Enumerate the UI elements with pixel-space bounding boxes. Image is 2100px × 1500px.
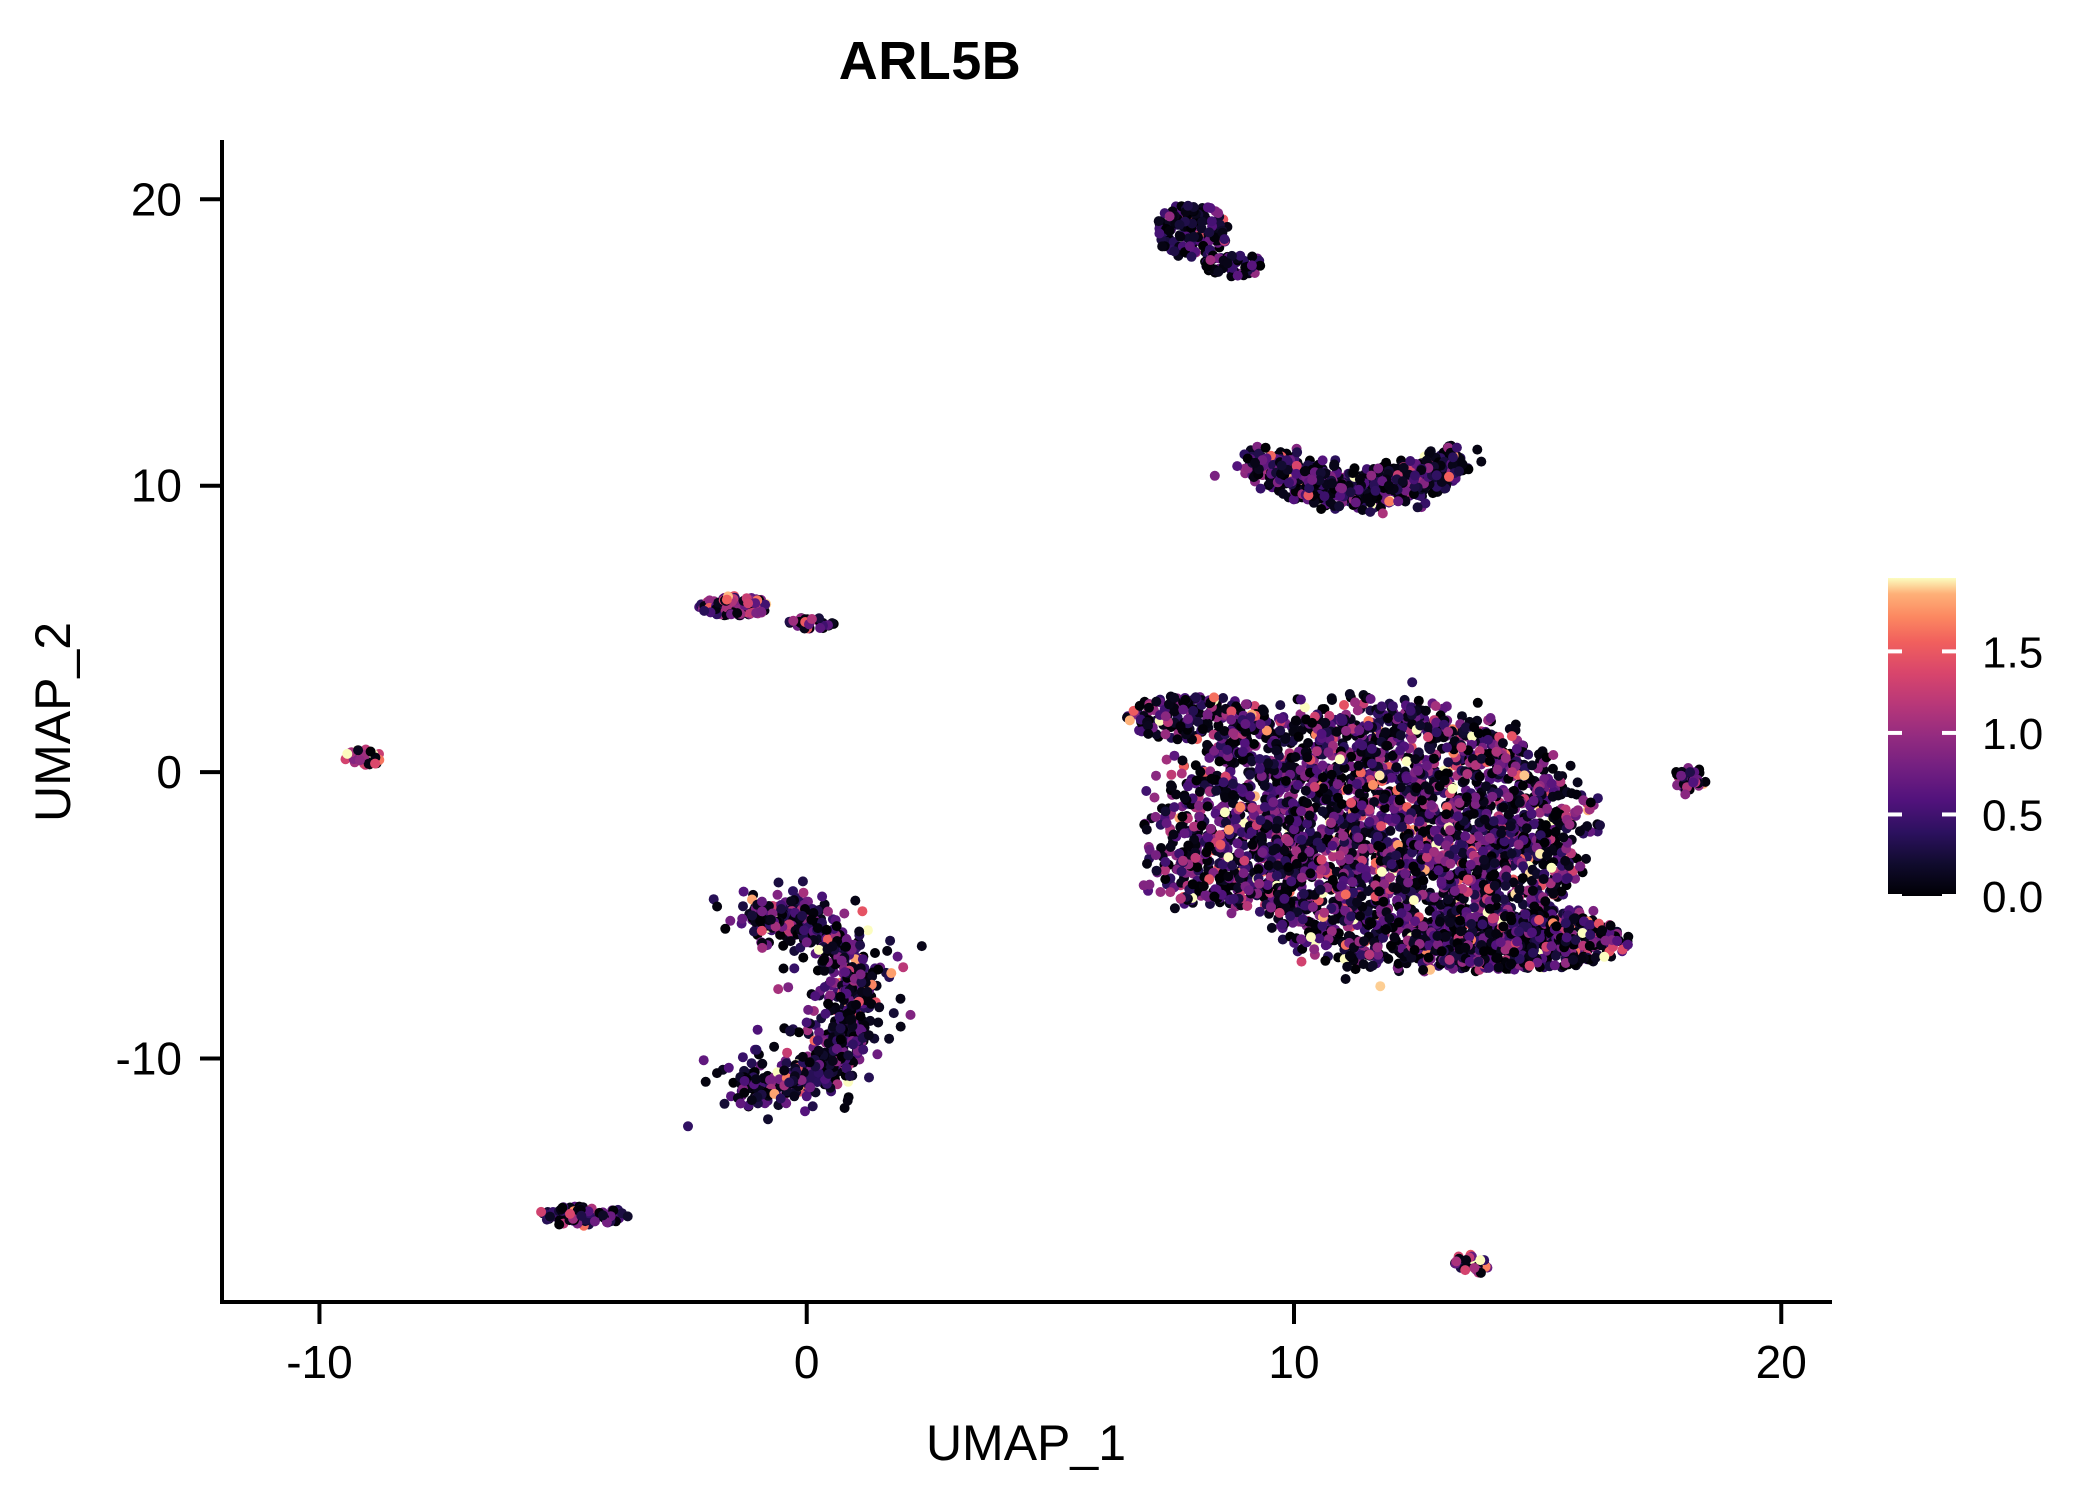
data-point (1450, 886, 1460, 896)
data-point (1477, 754, 1487, 764)
data-point (1249, 739, 1259, 749)
data-point (1228, 728, 1238, 738)
data-point (1176, 894, 1186, 904)
data-point (1301, 786, 1311, 796)
data-point (1259, 706, 1269, 716)
data-point (1582, 821, 1592, 831)
data-point (1553, 791, 1563, 801)
data-point (1219, 777, 1229, 787)
data-point (1501, 753, 1511, 763)
data-point (1209, 692, 1219, 702)
data-point (1277, 461, 1287, 471)
data-point (1223, 872, 1233, 882)
data-point (1275, 700, 1285, 710)
data-point (1490, 881, 1500, 891)
data-point (1260, 781, 1270, 791)
data-point (1327, 770, 1337, 780)
data-point (1396, 730, 1406, 740)
data-point (1183, 201, 1193, 211)
data-point (1479, 855, 1489, 865)
data-point (1475, 772, 1485, 782)
data-point (1552, 921, 1562, 931)
data-point (1317, 921, 1327, 931)
data-point (1491, 929, 1501, 939)
data-point (1180, 793, 1190, 803)
data-point (1250, 458, 1260, 468)
data-point (1297, 957, 1307, 967)
data-point (1339, 700, 1349, 710)
data-point (1156, 887, 1166, 897)
data-point (1197, 821, 1207, 831)
data-point (1198, 724, 1208, 734)
data-point (1424, 785, 1434, 795)
data-point (1207, 216, 1217, 226)
data-point (1525, 961, 1535, 971)
data-point (1291, 469, 1301, 479)
data-point (1550, 960, 1560, 970)
data-point (1321, 794, 1331, 804)
data-point (1220, 234, 1230, 244)
data-point (1512, 937, 1522, 947)
data-point (1338, 831, 1348, 841)
data-point (1504, 810, 1514, 820)
data-point (1469, 722, 1479, 732)
data-point (1337, 714, 1347, 724)
figure-root: ARL5B -1001020 -1001020 UMAP_1 UMAP_2 0.… (0, 0, 2100, 1500)
data-point (1278, 489, 1288, 499)
data-point (1535, 787, 1545, 797)
data-point (1446, 859, 1456, 869)
data-point (1513, 893, 1523, 903)
data-point (1406, 706, 1416, 716)
data-point (1473, 698, 1483, 708)
data-point (1485, 756, 1495, 766)
data-point (1474, 957, 1484, 967)
data-point (1229, 894, 1239, 904)
data-point (1506, 959, 1516, 969)
data-point (1585, 941, 1595, 951)
data-point (1527, 928, 1537, 938)
data-point (1418, 921, 1428, 931)
data-point (1152, 866, 1162, 876)
data-point (1160, 865, 1170, 875)
data-point (1612, 936, 1622, 946)
data-point (1466, 860, 1476, 870)
data-point (1235, 802, 1245, 812)
data-point (1220, 807, 1230, 817)
data-point (1365, 817, 1375, 827)
data-point (1353, 833, 1363, 843)
data-point (1189, 232, 1199, 242)
data-point (1375, 771, 1385, 781)
data-point (1520, 909, 1530, 919)
data-point (1382, 741, 1392, 751)
data-point (1329, 461, 1339, 471)
data-point (1326, 818, 1336, 828)
data-point (1145, 880, 1155, 890)
data-point (1281, 776, 1291, 786)
data-point (1484, 963, 1494, 973)
data-point (1418, 876, 1428, 886)
data-point (1279, 894, 1289, 904)
data-point (1359, 959, 1369, 969)
data-point (1400, 869, 1410, 879)
data-point (1176, 721, 1186, 731)
data-point (1237, 784, 1247, 794)
data-point (1209, 892, 1219, 902)
data-point (1403, 878, 1413, 888)
data-point (1151, 850, 1161, 860)
data-point (1441, 809, 1451, 819)
data-point (1195, 767, 1205, 777)
data-point (1215, 873, 1225, 883)
data-point (1275, 726, 1285, 736)
data-point (1408, 862, 1418, 872)
data-point (1357, 740, 1367, 750)
data-point (1210, 471, 1220, 481)
data-point (1379, 794, 1389, 804)
data-point (1397, 822, 1407, 832)
data-point (1161, 711, 1171, 721)
data-point (1178, 856, 1188, 866)
data-point (1366, 694, 1376, 704)
data-point (1456, 742, 1466, 752)
data-point (1224, 825, 1234, 835)
data-point (1192, 776, 1202, 786)
data-point (1460, 943, 1470, 953)
data-point (1181, 695, 1191, 705)
data-point (1469, 809, 1479, 819)
data-point (1377, 701, 1387, 711)
data-point (1341, 890, 1351, 900)
data-point (1429, 754, 1439, 764)
data-point (1256, 815, 1266, 825)
data-point (1507, 731, 1517, 741)
data-point (1456, 926, 1466, 936)
data-point (1488, 914, 1498, 924)
data-point (1302, 752, 1312, 762)
data-point (1515, 798, 1525, 808)
data-point (1501, 881, 1511, 891)
data-point (1444, 472, 1454, 482)
data-point (1432, 931, 1442, 941)
data-point (1394, 712, 1404, 722)
data-point (1166, 770, 1176, 780)
data-point (1263, 758, 1273, 768)
data-point (1284, 836, 1294, 846)
data-point (1440, 776, 1450, 786)
data-point (1507, 767, 1517, 777)
data-point (1518, 781, 1528, 791)
data-point (1166, 842, 1176, 852)
data-point (1185, 241, 1195, 251)
data-point (1303, 738, 1313, 748)
data-point (1320, 956, 1330, 966)
data-point (1492, 747, 1502, 757)
data-point (1462, 769, 1472, 779)
data-point (1297, 835, 1307, 845)
data-point (1383, 713, 1393, 723)
data-point (1206, 824, 1216, 834)
data-point (1498, 738, 1508, 748)
data-point (1542, 850, 1552, 860)
data-point (1175, 220, 1185, 230)
data-point (1398, 477, 1408, 487)
data-point (1352, 897, 1362, 907)
data-point (1151, 812, 1161, 822)
data-point (1506, 821, 1516, 831)
data-point (1228, 790, 1238, 800)
data-point (1394, 917, 1404, 927)
data-point (1177, 769, 1187, 779)
data-point (1429, 847, 1439, 857)
data-point (1548, 750, 1558, 760)
data-point (1541, 820, 1551, 830)
data-point (1415, 816, 1425, 826)
data-point (1586, 798, 1596, 808)
data-point (1337, 483, 1347, 493)
data-point (1424, 953, 1434, 963)
data-point (1125, 715, 1135, 725)
data-point (1518, 861, 1528, 871)
data-point (1318, 783, 1328, 793)
data-point (1405, 456, 1415, 466)
data-point (1566, 761, 1576, 771)
data-point (1345, 689, 1355, 699)
data-point (1374, 886, 1384, 896)
data-point (1378, 508, 1388, 518)
data-point (1506, 915, 1516, 925)
data-point (1491, 894, 1501, 904)
data-point (1142, 859, 1152, 869)
data-point (1202, 740, 1212, 750)
data-point (1328, 875, 1338, 885)
data-point (1218, 693, 1228, 703)
data-point (1561, 918, 1571, 928)
data-point (1183, 781, 1193, 791)
data-point (1260, 802, 1270, 812)
data-point (1493, 765, 1503, 775)
data-point (1341, 726, 1351, 736)
data-point (1292, 447, 1302, 457)
data-point (1268, 846, 1278, 856)
data-point (1286, 876, 1296, 886)
data-point (1445, 917, 1455, 927)
data-point (1334, 501, 1344, 511)
data-point (1203, 709, 1213, 719)
data-point (1585, 930, 1595, 940)
data-point (1415, 721, 1425, 731)
data-point (1396, 782, 1406, 792)
data-point (1476, 457, 1486, 467)
data-point (1353, 705, 1363, 715)
data-point (1445, 825, 1455, 835)
data-point (1215, 756, 1225, 766)
chart-canvas: -1001020 -1001020 UMAP_1 UMAP_2 0.00.51.… (0, 0, 2100, 1500)
data-point (1402, 774, 1412, 784)
data-point (1527, 760, 1537, 770)
data-point (1308, 902, 1318, 912)
data-point (1523, 750, 1533, 760)
data-point (1359, 936, 1369, 946)
data-point (1142, 825, 1152, 835)
data-point (1501, 872, 1511, 882)
data-point (1595, 820, 1605, 830)
data-point (1562, 933, 1572, 943)
data-point (1391, 814, 1401, 824)
data-point (1534, 915, 1544, 925)
data-point (1244, 885, 1254, 895)
data-point (1305, 868, 1315, 878)
data-point (1169, 246, 1179, 256)
data-point (1285, 911, 1295, 921)
data-point (1483, 735, 1493, 745)
data-point (1346, 911, 1356, 921)
data-point (1463, 875, 1473, 885)
data-point (1178, 705, 1188, 715)
data-point (1247, 840, 1257, 850)
data-point (1494, 963, 1504, 973)
data-point (1366, 471, 1376, 481)
data-point (1299, 889, 1309, 899)
data-point (1161, 729, 1171, 739)
data-point (1294, 732, 1304, 742)
data-point (1460, 831, 1470, 841)
data-point (1423, 732, 1433, 742)
data-point (1478, 846, 1488, 856)
data-point (1422, 761, 1432, 771)
data-point (1462, 792, 1472, 802)
data-point (1465, 957, 1475, 967)
data-point (1417, 795, 1427, 805)
data-point (1479, 946, 1489, 956)
data-point (1489, 816, 1499, 826)
data-point (1266, 903, 1276, 913)
data-point (1560, 856, 1570, 866)
data-point (1199, 881, 1209, 891)
data-point (1477, 919, 1487, 929)
data-point (1135, 701, 1145, 711)
data-point (1485, 904, 1495, 914)
data-point (1472, 445, 1482, 455)
data-point (1276, 714, 1286, 724)
data-point (1364, 950, 1374, 960)
data-point (1351, 498, 1361, 508)
data-point (1367, 759, 1377, 769)
scatter-plot-svg: -1001020 -1001020 UMAP_1 UMAP_2 0.00.51.… (0, 0, 2100, 1500)
data-point (1312, 746, 1322, 756)
data-point (1222, 745, 1232, 755)
data-point (1386, 941, 1396, 951)
data-point (1302, 798, 1312, 808)
data-point (1272, 871, 1282, 881)
data-point (1203, 801, 1213, 811)
data-point (1306, 932, 1316, 942)
data-point (1309, 944, 1319, 954)
data-point (1379, 897, 1389, 907)
data-point (1388, 701, 1398, 711)
data-point (1507, 849, 1517, 859)
data-point (1277, 920, 1287, 930)
data-point (1160, 857, 1170, 867)
data-point (1623, 940, 1633, 950)
data-point (1563, 873, 1573, 883)
data-point (1437, 946, 1447, 956)
data-point (1445, 955, 1455, 965)
data-point (1226, 715, 1236, 725)
data-point (1547, 863, 1557, 873)
data-point (1421, 706, 1431, 716)
data-point (1548, 889, 1558, 899)
data-point (1298, 914, 1308, 924)
data-point (1481, 781, 1491, 791)
data-point (1552, 873, 1562, 883)
data-point (1165, 226, 1175, 236)
data-point (1256, 719, 1266, 729)
data-point (1161, 806, 1171, 816)
data-point (1413, 502, 1423, 512)
data-point (1290, 752, 1300, 762)
data-point (1154, 229, 1164, 239)
data-point (1361, 871, 1371, 881)
data-point (1220, 726, 1230, 736)
data-point (1307, 718, 1317, 728)
data-point (1410, 471, 1420, 481)
data-point (1431, 701, 1441, 711)
data-point (1395, 795, 1405, 805)
data-point (1448, 784, 1458, 794)
data-point (1242, 901, 1252, 911)
data-point (1519, 770, 1529, 780)
data-point (1211, 786, 1221, 796)
data-points-layer (341, 201, 1711, 1278)
data-point (1528, 886, 1538, 896)
data-point (1568, 955, 1578, 965)
data-point (1443, 727, 1453, 737)
data-point (1345, 951, 1355, 961)
data-point (1342, 962, 1352, 972)
data-point (1154, 216, 1164, 226)
data-point (1257, 847, 1267, 857)
data-point (1373, 832, 1383, 842)
data-point (1385, 826, 1395, 836)
data-point (1255, 754, 1265, 764)
data-point (1327, 695, 1337, 705)
data-point (1435, 917, 1445, 927)
data-point (1490, 858, 1500, 868)
data-point (1160, 874, 1170, 884)
data-point (1512, 744, 1522, 754)
data-point (1234, 848, 1244, 858)
data-point (1466, 919, 1476, 929)
data-point (1542, 804, 1552, 814)
data-point (1197, 217, 1207, 227)
data-point (1296, 806, 1306, 816)
data-point (1357, 800, 1367, 810)
data-point (1540, 838, 1550, 848)
data-point (1486, 713, 1496, 723)
data-point (1157, 241, 1167, 251)
data-point (1179, 828, 1189, 838)
data-point (1241, 699, 1251, 709)
data-point (1341, 974, 1351, 984)
data-point (1371, 486, 1381, 496)
data-point (1409, 895, 1419, 905)
data-point (1346, 798, 1356, 808)
data-point (1377, 867, 1387, 877)
data-point (1599, 952, 1609, 962)
data-point (1178, 756, 1188, 766)
